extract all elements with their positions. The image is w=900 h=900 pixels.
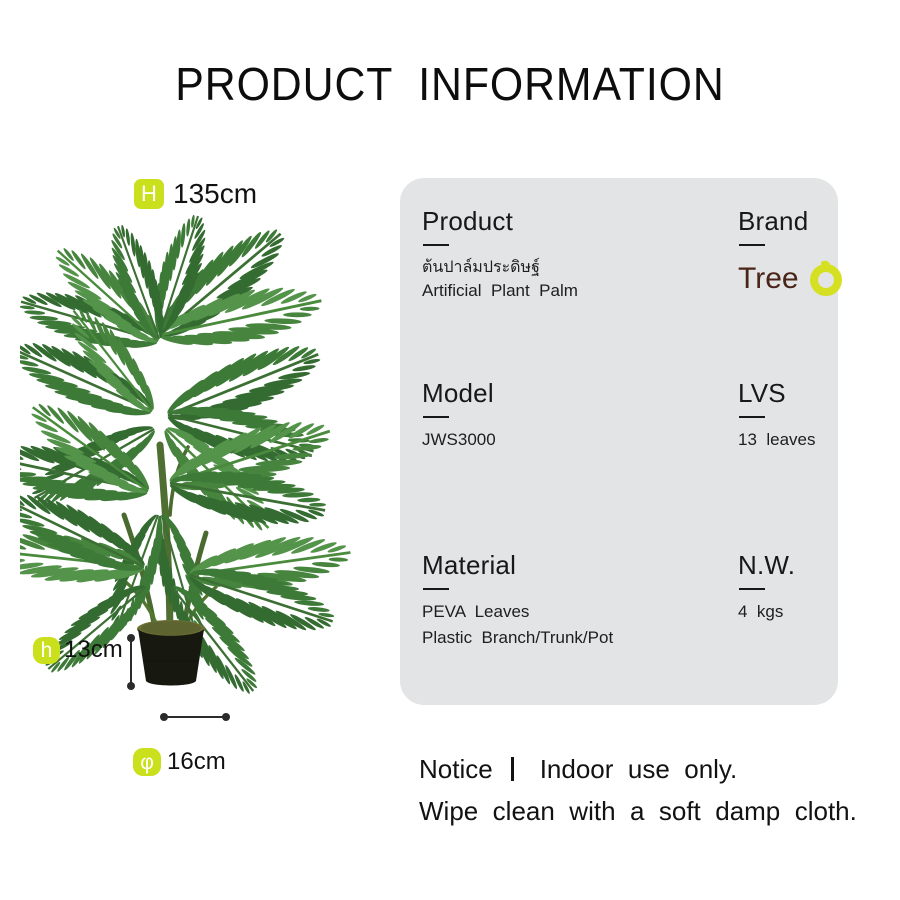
dimension-pot-height: h 13cm — [33, 636, 123, 664]
notice-line-1: Notice Indoor use only. — [419, 748, 889, 790]
field-lvs: LVS 13 leaves — [738, 380, 868, 453]
pot-diameter-value: 16cm — [167, 748, 226, 776]
notice-text-2: Wipe clean with a soft damp cloth. — [419, 790, 857, 832]
pot-diameter-badge-icon: φ — [133, 748, 161, 776]
pot-height-value: 13cm — [64, 636, 123, 664]
field-material: Material PEVA Leaves Plastic Branch/Trun… — [422, 552, 702, 650]
notice-label: Notice — [419, 748, 493, 790]
page-title: PRODUCT INFORMATION — [32, 57, 869, 111]
dimension-overall-height: H 135cm — [134, 178, 257, 210]
pot-diameter-measure-line — [156, 710, 234, 724]
notice-text-1: Indoor use only. — [540, 748, 738, 790]
field-net-weight-value: 4 kgs — [738, 599, 868, 625]
plant-pot — [137, 620, 205, 686]
info-panel: Product ต้นปาล์มประดิษฐ์ Artificial Plan… — [400, 178, 838, 705]
brand-logo-treeo: Tree — [738, 256, 850, 298]
height-value: 135cm — [173, 178, 257, 210]
notice-block: Notice Indoor use only. Wipe clean with … — [419, 748, 889, 832]
field-material-value-2: Plastic Branch/Trunk/Pot — [422, 625, 702, 651]
field-material-label: Material — [422, 552, 702, 579]
field-rule — [739, 416, 765, 418]
field-model-label: Model — [422, 380, 702, 407]
field-product-value-thai: ต้นปาล์มประดิษฐ์ — [422, 255, 702, 278]
field-material-value-1: PEVA Leaves — [422, 599, 702, 625]
field-brand: Brand Tree — [738, 208, 868, 298]
field-net-weight-label: N.W. — [738, 552, 868, 579]
field-model: Model JWS3000 — [422, 380, 702, 453]
field-rule — [423, 588, 449, 590]
field-model-value: JWS3000 — [422, 427, 702, 453]
product-image — [20, 215, 370, 705]
field-rule — [739, 244, 765, 246]
field-product: Product ต้นปาล์มประดิษฐ์ Artificial Plan… — [422, 208, 702, 304]
field-brand-label: Brand — [738, 208, 868, 235]
field-rule — [739, 588, 765, 590]
product-information-page: PRODUCT INFORMATION — [0, 0, 900, 900]
field-net-weight: N.W. 4 kgs — [738, 552, 868, 625]
brand-logo-wordmark: Tree — [738, 262, 799, 295]
notice-separator-icon — [511, 757, 514, 781]
notice-line-2: Wipe clean with a soft damp cloth. — [419, 790, 889, 832]
height-badge-icon: H — [134, 179, 164, 209]
field-rule — [423, 244, 449, 246]
pot-height-measure-line — [124, 630, 138, 694]
field-product-value-en: Artificial Plant Palm — [422, 278, 702, 304]
field-rule — [423, 416, 449, 418]
field-lvs-label: LVS — [738, 380, 868, 407]
field-product-label: Product — [422, 208, 702, 235]
dimension-pot-diameter: φ 16cm — [133, 748, 226, 776]
pot-height-badge-icon: h — [33, 637, 60, 664]
field-lvs-value: 13 leaves — [738, 427, 868, 453]
